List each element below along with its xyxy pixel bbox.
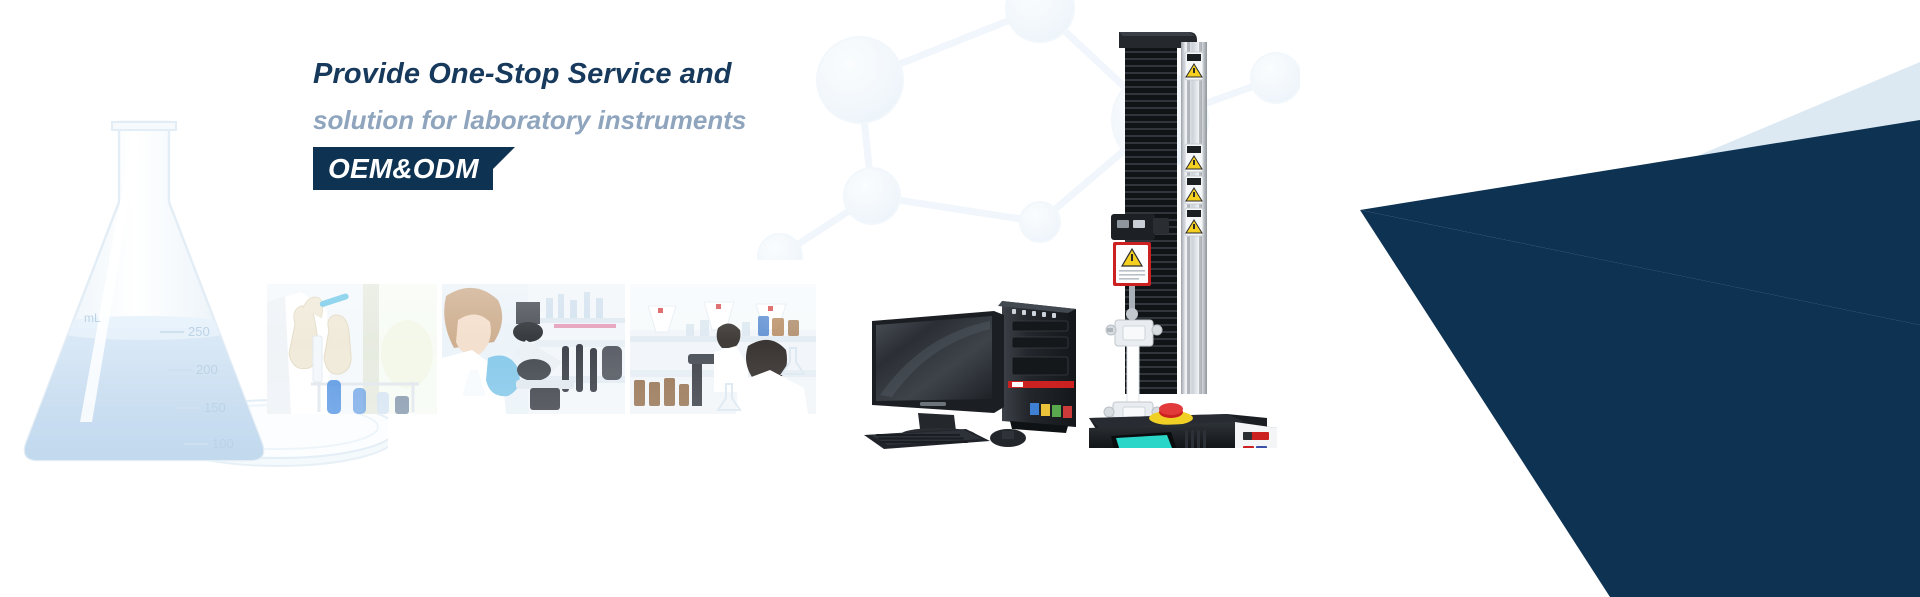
desktop-computer-workstation — [862, 295, 1092, 455]
tester-red-warning-plate — [1113, 242, 1151, 286]
graduation-200: 200 — [196, 362, 218, 377]
photo-strip: Technician pipetting blue reagent into t… — [267, 284, 816, 414]
keyboard — [864, 429, 990, 449]
graduation-100: 100 — [212, 436, 234, 451]
navy-arrow — [1360, 120, 1920, 325]
promo-banner: Provide One-Stop Service and solution fo… — [0, 0, 1920, 597]
photo-lab-bench: Lab staff working at a chemistry bench w… — [630, 284, 816, 414]
mouse — [990, 429, 1026, 447]
tester-specimen — [1127, 346, 1139, 402]
pale-blue-arrow-upper — [1550, 62, 1920, 218]
graduation-unit: mL — [84, 311, 101, 325]
tester-warning-labels — [1185, 52, 1203, 236]
badge-arrow-tail-icon — [493, 147, 515, 190]
decorative-arrow-shapes — [1360, 0, 1920, 597]
headline-block: Provide One-Stop Service and solution fo… — [313, 57, 1013, 190]
photo-pipetting: Technician pipetting blue reagent into t… — [267, 284, 437, 414]
liquid-surface — [48, 316, 240, 340]
graduation-150: 150 — [204, 400, 226, 415]
monitor-brand — [920, 402, 946, 406]
headline-line-2: solution for laboratory instruments — [313, 104, 1013, 136]
monitor — [872, 311, 1004, 442]
pc-tower — [998, 301, 1076, 433]
navy-arrow-lower — [1360, 210, 1920, 597]
graduation-250: 250 — [188, 324, 210, 339]
flask-rim — [112, 122, 176, 130]
emergency-stop-button — [1149, 403, 1193, 425]
photo-microscope: Researcher looking through a laboratory … — [442, 284, 625, 414]
universal-tensile-testing-machine — [1085, 18, 1315, 448]
headline-line-1: Provide One-Stop Service and — [313, 57, 1013, 91]
pale-blue-arrow — [1550, 130, 1920, 420]
